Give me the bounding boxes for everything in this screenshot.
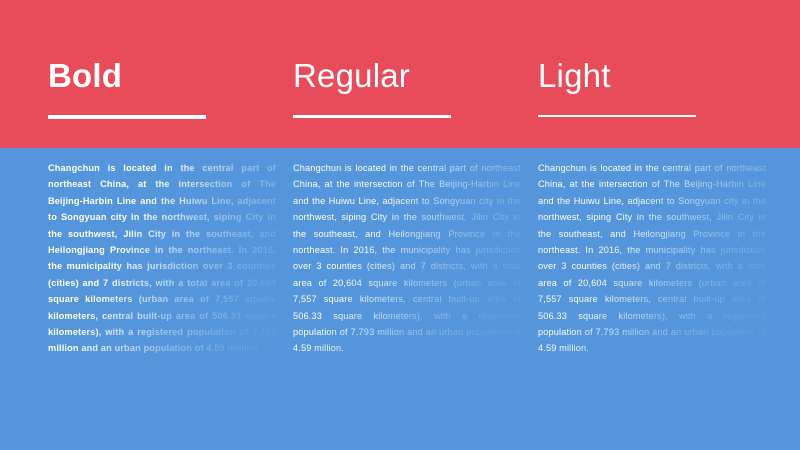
body-block-regular: Changchun is located in the central part… — [293, 160, 521, 357]
specimen-column-regular: Regular Changchun is located in the cent… — [293, 0, 538, 450]
specimen-column-light: Light Changchun is located in the centra… — [538, 0, 783, 450]
heading-regular: Regular — [293, 58, 538, 94]
heading-block-light: Light — [538, 58, 783, 117]
body-paragraph-regular: Changchun is located in the central part… — [293, 160, 521, 357]
heading-rule-light — [538, 115, 696, 117]
body-block-bold: Changchun is located in the central part… — [48, 160, 276, 357]
heading-bold: Bold — [48, 58, 293, 94]
heading-light: Light — [538, 58, 783, 94]
heading-rule-bold — [48, 115, 206, 119]
specimen-column-bold: Bold Changchun is located in the central… — [48, 0, 293, 450]
heading-block-bold: Bold — [48, 58, 293, 119]
heading-rule-regular — [293, 115, 451, 118]
body-paragraph-bold: Changchun is located in the central part… — [48, 160, 276, 357]
specimen-columns: Bold Changchun is located in the central… — [0, 0, 800, 450]
body-block-light: Changchun is located in the central part… — [538, 160, 766, 357]
slide-canvas: Bold Changchun is located in the central… — [0, 0, 800, 450]
body-paragraph-light: Changchun is located in the central part… — [538, 160, 766, 357]
heading-block-regular: Regular — [293, 58, 538, 118]
